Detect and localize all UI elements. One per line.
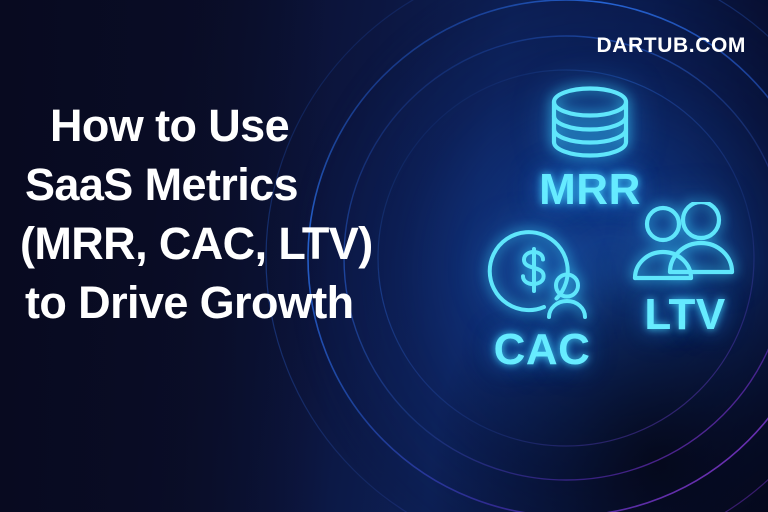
metric-ltv: LTV	[605, 202, 765, 337]
metric-mrr: MRR	[500, 85, 680, 212]
users-group-icon	[605, 202, 765, 291]
metrics-icon-cluster: MRR CAC	[430, 60, 768, 400]
title-line-3: (MRR, CAC, LTV)	[20, 214, 420, 273]
title-line-4: to Drive Growth	[25, 273, 420, 332]
title-line-1: How to Use	[50, 96, 420, 155]
metric-ltv-label: LTV	[605, 293, 765, 337]
title-line-2: SaaS Metrics	[25, 155, 420, 214]
hero-banner: DARTUB.COM How to Use SaaS Metrics (MRR,…	[0, 0, 768, 512]
page-title: How to Use SaaS Metrics (MRR, CAC, LTV) …	[20, 96, 420, 332]
database-icon	[500, 85, 680, 164]
brand-watermark: DARTUB.COM	[597, 34, 746, 58]
